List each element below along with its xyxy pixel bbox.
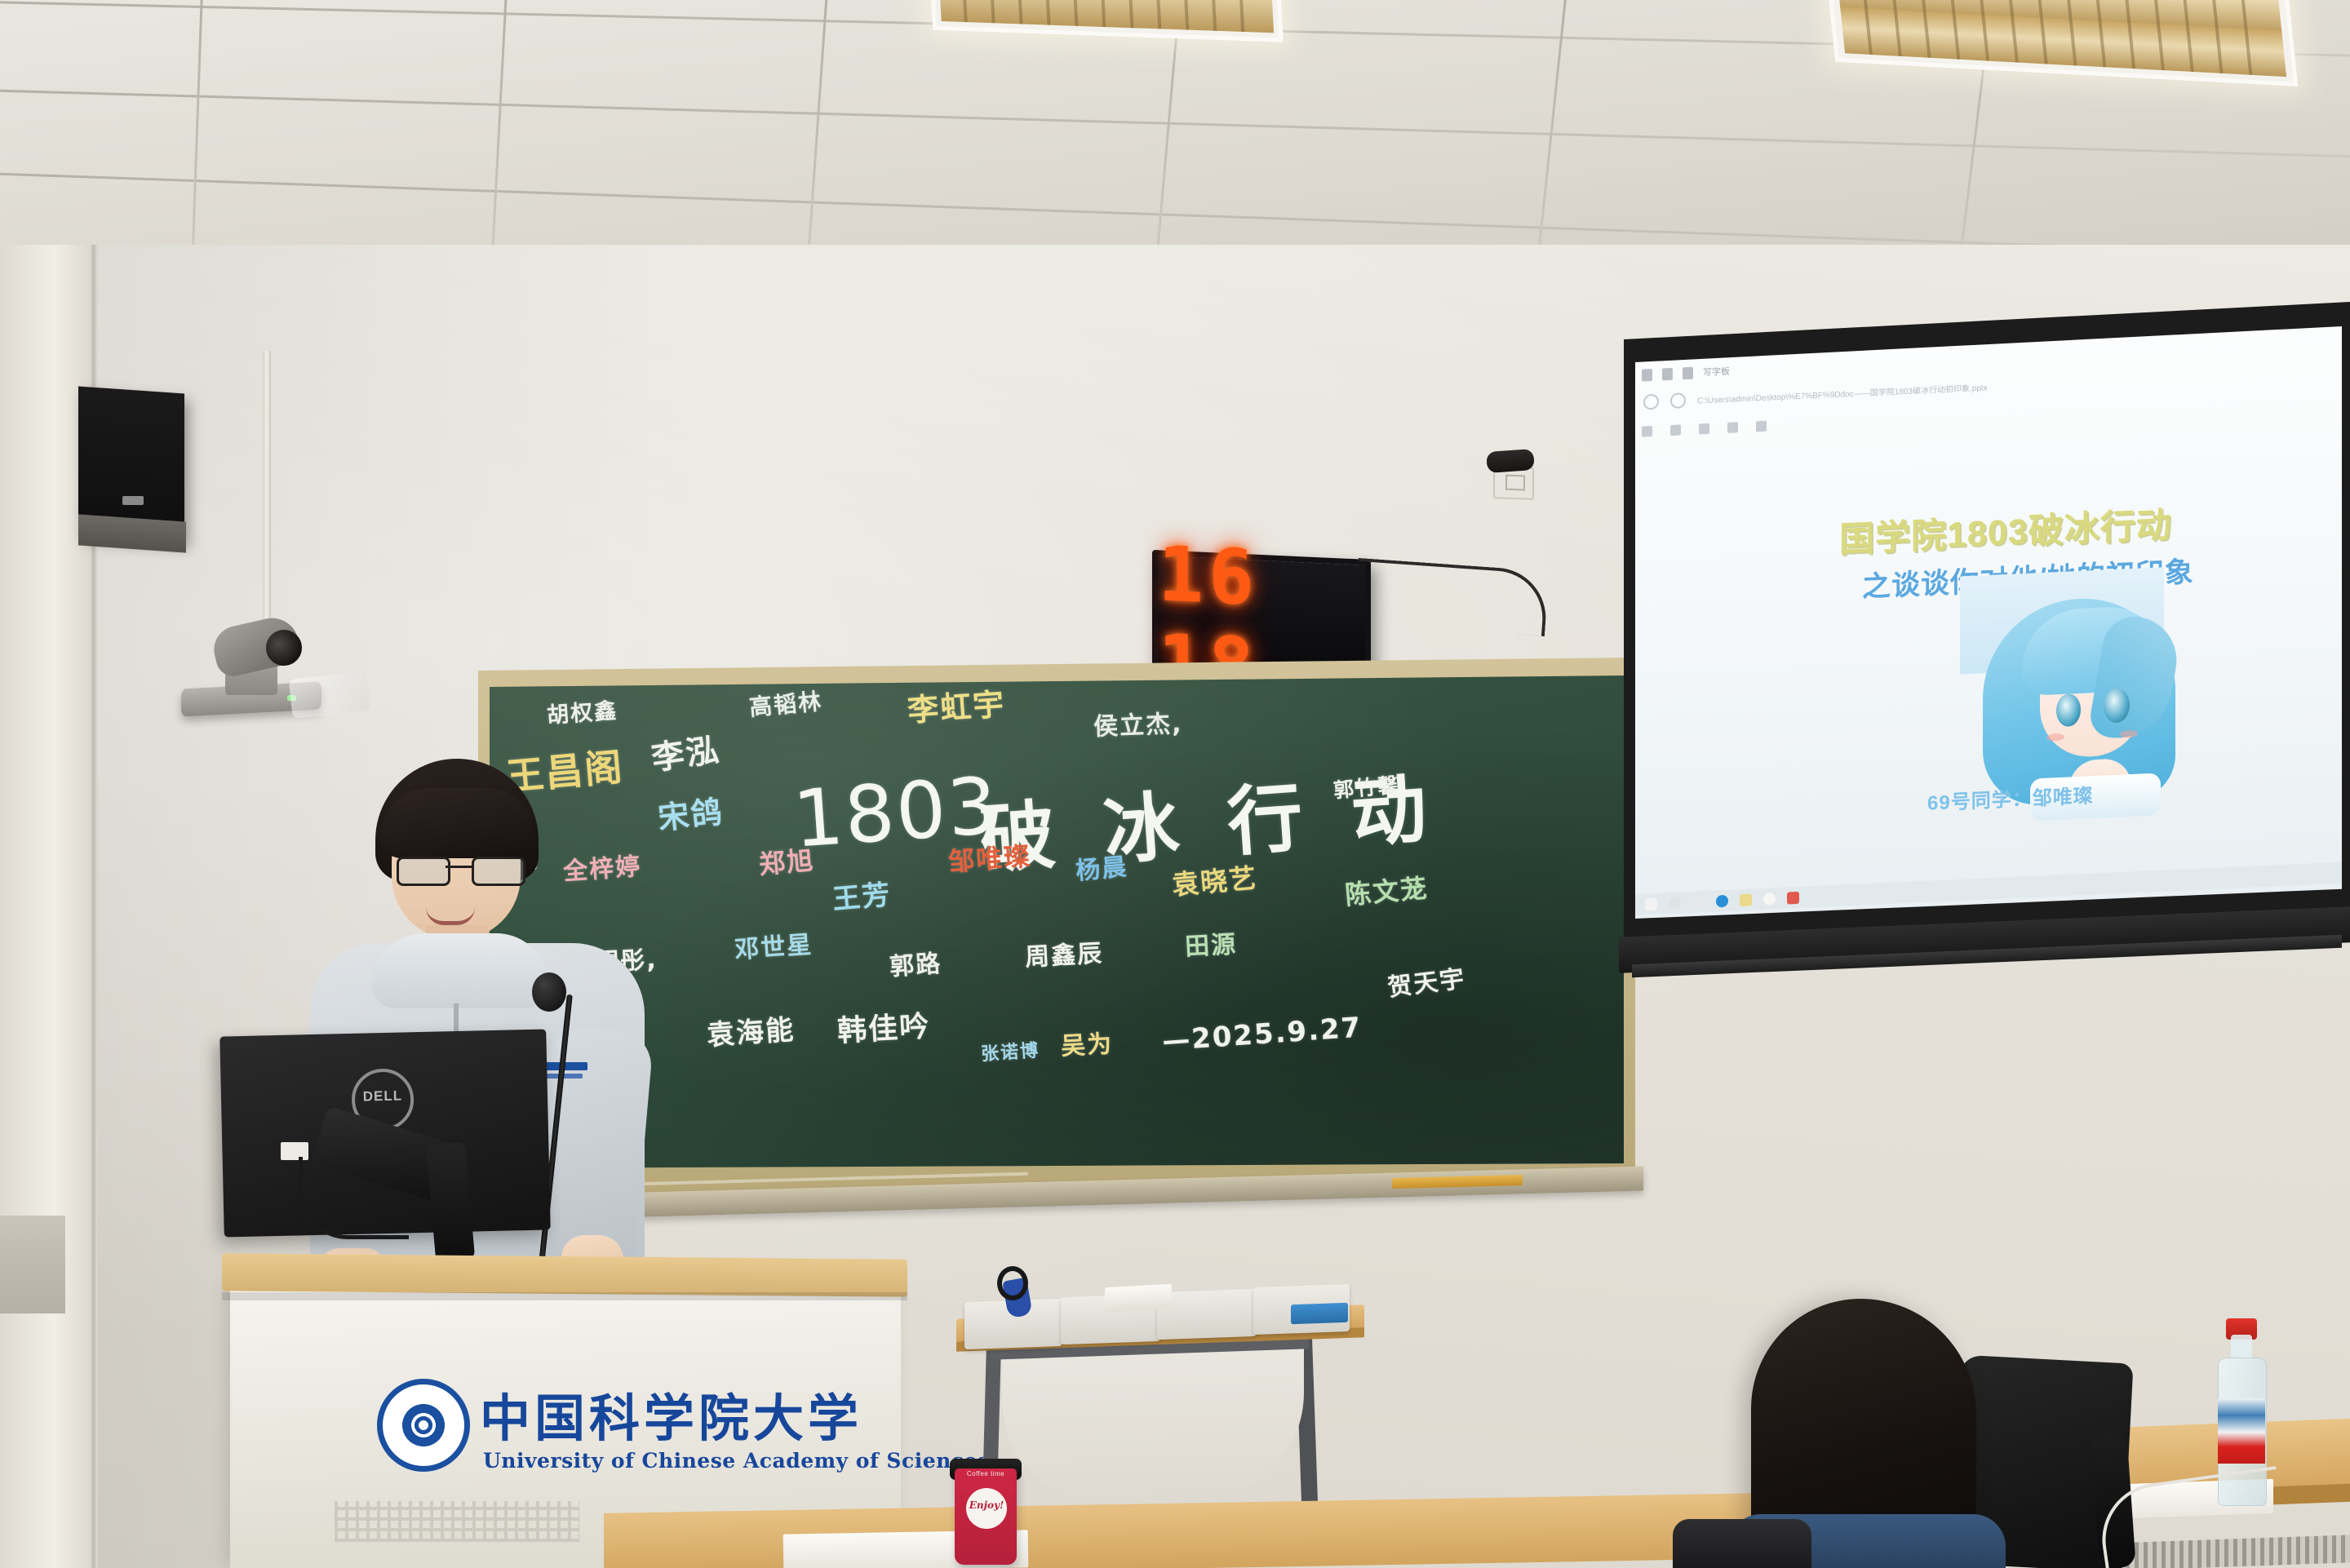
menu-icon[interactable] bbox=[1642, 426, 1652, 437]
presenter-fringe bbox=[380, 788, 535, 858]
zoom-icon[interactable] bbox=[1756, 420, 1767, 432]
pdf-icon[interactable] bbox=[1787, 891, 1799, 904]
word-icon[interactable] bbox=[1763, 893, 1776, 906]
blackboard-name: 袁晓艺 bbox=[1170, 857, 1259, 903]
app-icon bbox=[1642, 369, 1652, 382]
save-icon[interactable] bbox=[1683, 366, 1693, 379]
blackboard-name: 韩佳吟 bbox=[836, 1003, 932, 1050]
start-icon[interactable] bbox=[1645, 897, 1657, 910]
blackboard-name: 王芳 bbox=[831, 872, 893, 917]
plastic-bag bbox=[289, 671, 370, 719]
blackboard-name: 张诺博 bbox=[980, 1036, 1040, 1066]
address-bar[interactable]: C:\Users\admin\Desktop\%E7%BF%9Ddoc——国学院… bbox=[1697, 380, 1988, 405]
blackboard-name: 李虹宇 bbox=[906, 679, 1007, 730]
font-icon[interactable] bbox=[1670, 424, 1681, 436]
blackboard-name: 郭路 bbox=[889, 943, 943, 982]
blackboard-name: 邓世星 bbox=[734, 924, 814, 966]
chair-back bbox=[1673, 1519, 1811, 1568]
blackboard-name: 高韬林 bbox=[747, 684, 823, 723]
monitor-cable bbox=[299, 1157, 409, 1239]
paragraph-icon[interactable] bbox=[1699, 423, 1709, 434]
task-view-icon[interactable] bbox=[1692, 896, 1705, 909]
blackboard-name: 周鑫辰 bbox=[1024, 933, 1104, 973]
podium-logo-cn: 中国科学院大学 bbox=[480, 1377, 862, 1451]
microphone-head-icon bbox=[532, 972, 566, 1012]
ceiling-light-left bbox=[928, 0, 1283, 42]
classroom-scene: 16 18 1803 破 冰 行 动 —2025.9.27 胡权鑫高韬林李虹宇侯… bbox=[0, 0, 2350, 1568]
blackboard-name: 侯立杰, bbox=[1093, 703, 1183, 742]
browser-tab-label[interactable]: 写字板 bbox=[1703, 365, 1730, 379]
dell-logo-text: DELL bbox=[355, 1087, 410, 1105]
ceiling bbox=[0, 0, 2350, 269]
window-icon bbox=[1662, 367, 1673, 380]
storage-tray-3[interactable] bbox=[1157, 1289, 1257, 1340]
podium-edge bbox=[222, 1292, 907, 1300]
blackboard-name: 胡权鑫 bbox=[546, 693, 619, 729]
bottle-label bbox=[2218, 1398, 2265, 1464]
ucas-emblem-icon bbox=[377, 1379, 470, 1472]
stapler-item[interactable] bbox=[1105, 1284, 1172, 1312]
coffee-cup-enjoy-text: Enjoy! bbox=[966, 1499, 1007, 1511]
blackboard-surface: 1803 破 冰 行 动 —2025.9.27 胡权鑫高韬林李虹宇侯立杰,王昌阁… bbox=[490, 675, 1624, 1168]
scissors-handle bbox=[997, 1266, 1028, 1300]
blackboard-name: 田源 bbox=[1184, 924, 1238, 962]
glasses-bridge bbox=[446, 866, 472, 868]
camera-mount-arm bbox=[263, 351, 271, 640]
explorer-icon[interactable] bbox=[1740, 893, 1752, 906]
blackboard-name: 宋鸽 bbox=[655, 786, 725, 838]
podium-worktop bbox=[222, 1253, 907, 1296]
blackboard-name: 杨晨 bbox=[1074, 846, 1129, 886]
ceiling-light-right bbox=[1823, 0, 2298, 86]
projector-screen[interactable]: 写字板 C:\Users\admin\Desktop\%E7%BF%9Ddoc—… bbox=[1635, 326, 2342, 919]
blackboard-name: 邹唯璨 bbox=[947, 835, 1033, 879]
blackboard-name: 吴为 bbox=[1060, 1023, 1114, 1061]
search-icon[interactable] bbox=[1669, 897, 1681, 910]
blackboard-name: 李泓 bbox=[648, 723, 722, 779]
insert-icon[interactable] bbox=[1727, 422, 1738, 433]
glasses-lens-right bbox=[472, 857, 525, 886]
podium-vent-grille bbox=[335, 1501, 579, 1542]
speaker-logo bbox=[122, 496, 144, 505]
forward-icon[interactable] bbox=[1670, 392, 1686, 409]
presenter-glasses-icon bbox=[397, 857, 521, 881]
blue-box-item[interactable] bbox=[1291, 1303, 1348, 1324]
baseboard bbox=[0, 1216, 65, 1313]
blackboard-name: 郑旭 bbox=[757, 839, 816, 882]
edge-icon[interactable] bbox=[1716, 894, 1728, 907]
blackboard-name: 袁海能 bbox=[705, 1007, 796, 1052]
glasses-lens-left bbox=[397, 857, 450, 886]
blackboard-name: 郭竹馨 bbox=[1332, 769, 1401, 804]
power-plug-icon bbox=[1486, 449, 1535, 473]
back-icon[interactable] bbox=[1643, 393, 1659, 410]
podium-logo-en: University of Chinese Academy of Science… bbox=[483, 1449, 989, 1473]
presenter-hood bbox=[372, 933, 548, 1008]
coffee-cup-brand-text: Coffee time bbox=[960, 1470, 1012, 1480]
blackboard-name: 陈文茏 bbox=[1343, 868, 1430, 913]
